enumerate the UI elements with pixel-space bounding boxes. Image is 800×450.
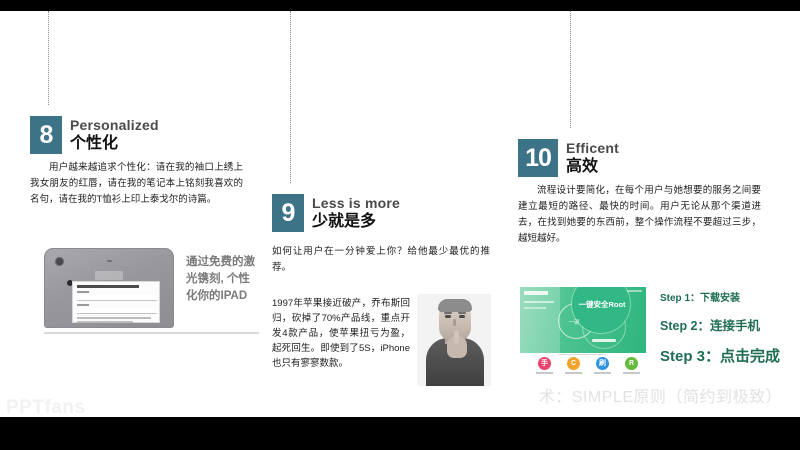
step-1: Step 1：下载安装: [660, 289, 786, 304]
app-icon-4: R: [625, 357, 638, 370]
step-2: Step 2：连接手机: [660, 315, 786, 334]
letterbox-top: [0, 0, 800, 11]
letterbox-bottom: [0, 417, 800, 450]
section-8-titles: Personalized 个性化: [70, 116, 159, 153]
photo-brow-right: [458, 312, 466, 314]
app-sub-label: 一键: [562, 318, 586, 326]
app-action-button[interactable]: [592, 339, 616, 342]
app-icon-2-glyph: C: [567, 357, 580, 370]
section-9-title-en: Less is more: [312, 195, 400, 211]
jobs-caption: 1997年苹果接近破产，乔布斯回归，砍掉了70%产品线，重点开发4款产品，使苹果…: [272, 296, 410, 371]
app-icon-item[interactable]: C: [565, 357, 582, 379]
section-9-figure: 1997年苹果接近破产，乔布斯回归，砍掉了70%产品线，重点开发4款产品，使苹果…: [272, 294, 497, 390]
connector-line-9: [290, 11, 291, 183]
app-window-controls: [626, 290, 642, 292]
slide-canvas: 8 Personalized 个性化 用户越来越追求个性化：请在我的袖口上绣上我…: [0, 0, 800, 450]
ipad-image: [44, 248, 174, 328]
section-8-header: 8 Personalized 个性化: [30, 116, 250, 154]
app-panel-line-1: [524, 301, 554, 303]
ipad-logo: [95, 271, 123, 280]
section-10-body: 流程设计要简化，在每个用户与她想要的服务之间要建立最短的路径、最快的时间。用户无…: [518, 183, 761, 247]
section-9-body: 如何让用户在一分钟爱上你？给他最少最优的推荐。: [272, 244, 490, 276]
dialog-label-2: [77, 304, 89, 306]
app-icon-1-glyph: 手: [538, 357, 551, 370]
app-icon-2-caption: [565, 372, 582, 374]
section-10-figure: 一键 一键安全Root 手 C 刷: [518, 287, 786, 379]
section-8-title-cn: 个性化: [70, 134, 159, 153]
photo-hair: [438, 299, 472, 312]
section-10-header: 10 Efficent 高效: [518, 139, 766, 177]
app-icon-item[interactable]: 手: [536, 357, 553, 379]
app-icon-4-glyph: R: [625, 357, 638, 370]
photo-finger: [454, 330, 459, 344]
app-icon-1-caption: [536, 372, 553, 374]
section-9-title-cn: 少就是多: [312, 212, 400, 231]
section-10-title-en: Efficent: [566, 140, 619, 156]
section-9-titles: Less is more 少就是多: [312, 194, 400, 231]
app-icon-3-glyph: 刷: [596, 357, 609, 370]
app-icon-row: 手 C 刷 R: [530, 357, 646, 379]
steve-jobs-photo: [417, 294, 491, 386]
app-side-panel: [520, 287, 560, 353]
section-less-is-more: 9 Less is more 少就是多 如何让用户在一分钟爱上你？给他最少最优的…: [272, 194, 497, 276]
app-icon-item[interactable]: 刷: [594, 357, 611, 379]
dialog-note-2: [77, 321, 133, 323]
app-icon-4-caption: [623, 372, 640, 374]
steps-list: Step 1：下载安装 Step 2：连接手机 Step 3：点击完成: [660, 285, 786, 366]
app-main-label: 一键安全Root: [575, 299, 629, 310]
section-8-figure: 通过免费的激光镌刻, 个性化你的IPAD: [44, 248, 259, 338]
figure-baseline: [44, 332, 259, 334]
dialog-field-1: [77, 295, 157, 301]
dialog-label-1: [77, 291, 89, 293]
step-3: Step 3：点击完成: [660, 345, 786, 366]
app-icon-3-caption: [594, 372, 611, 374]
app-panel-line-2: [524, 307, 546, 309]
connector-line-8: [48, 11, 49, 105]
app-icon-item[interactable]: R: [623, 357, 640, 379]
section-8-title-en: Personalized: [70, 117, 159, 133]
dialog-field-2: [77, 308, 157, 314]
watermark-right: 术：SIMPLE原则（简约到极致）: [539, 383, 782, 407]
section-9-header: 9 Less is more 少就是多: [272, 194, 497, 232]
photo-nose: [453, 319, 456, 326]
photo-brow-left: [444, 312, 452, 314]
root-app-screenshot: 一键 一键安全Root: [520, 287, 646, 353]
ipad-caption: 通过免费的激光镌刻, 个性化你的IPAD: [186, 254, 256, 305]
app-panel-title: [524, 291, 548, 295]
dialog-title-bar: [77, 285, 139, 288]
ipad-camera-icon: [55, 257, 64, 266]
app-icon-3: 刷: [596, 357, 609, 370]
ipad-mic-icon: [107, 260, 112, 262]
photo-eye-left: [445, 315, 451, 318]
app-icon-1: 手: [538, 357, 551, 370]
section-personalized: 8 Personalized 个性化 用户越来越追求个性化：请在我的袖口上绣上我…: [30, 116, 250, 208]
watermark-left: PPTfans: [6, 397, 86, 417]
slide-stage: 8 Personalized 个性化 用户越来越追求个性化：请在我的袖口上绣上我…: [0, 11, 800, 417]
section-8-body: 用户越来越追求个性化：请在我的袖口上绣上我女朋友的红唇，请在我的笔记本上铭刻我喜…: [30, 160, 243, 208]
section-10-title-cn: 高效: [566, 157, 619, 176]
app-divider: [558, 354, 606, 355]
photo-eye-right: [459, 315, 465, 318]
app-icon-2: C: [567, 357, 580, 370]
section-efficent: 10 Efficent 高效 流程设计要简化，在每个用户与她想要的服务之间要建立…: [518, 139, 766, 247]
section-number-badge-10: 10: [518, 139, 558, 177]
section-10-titles: Efficent 高效: [566, 139, 619, 176]
engraving-dialog: [72, 281, 160, 323]
section-number-badge-8: 8: [30, 116, 62, 154]
section-number-badge-9: 9: [272, 194, 304, 232]
dialog-note-1: [77, 317, 151, 319]
connector-line-10: [570, 11, 571, 128]
